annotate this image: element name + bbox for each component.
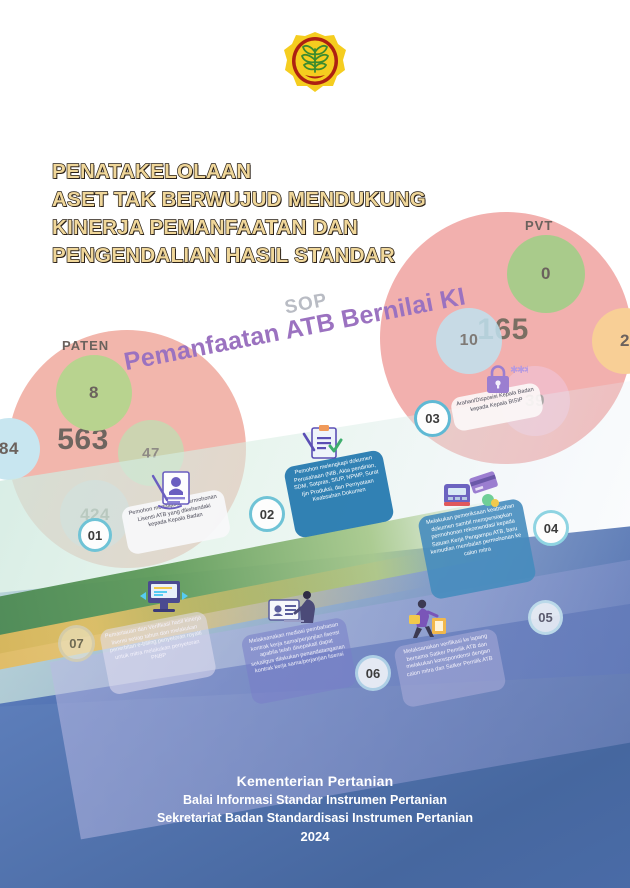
ministry-of-agriculture-logo (281, 30, 349, 108)
padlock-icon: ✱ ✱ ✱ (482, 363, 528, 402)
step-badge-03-label: 03 (425, 411, 439, 426)
step-badge-04[interactable]: 04 (533, 510, 569, 546)
presentation-icon (265, 590, 323, 639)
page-title: PENATAKELOLAAN ASET TAK BERWUJUD MENDUKU… (52, 158, 522, 270)
form-document-icon (149, 470, 195, 517)
step-badge-05[interactable]: 05 (528, 600, 563, 635)
checklist-clipboard-icon (300, 424, 344, 473)
monitor-chart-icon (140, 578, 192, 625)
step-badge-07-label: 07 (69, 636, 83, 651)
step-badge-02[interactable]: 02 (249, 496, 285, 532)
footer-line-ministry: Kementerian Pertanian (0, 772, 630, 791)
bubble-paten-label: PATEN (62, 338, 109, 353)
title-line-3: KINERJA PEMANFAATAN DAN (52, 214, 522, 242)
payment-terminal-icon (438, 470, 500, 515)
footer-line-sekretariat: Sekretariat Badan Standardisasi Instrume… (0, 809, 630, 827)
step-badge-01[interactable]: 01 (78, 518, 112, 552)
field-worker-icon (404, 598, 456, 645)
footer-line-year: 2024 (0, 827, 630, 847)
title-line-1: PENATAKELOLAAN (52, 158, 522, 186)
step-badge-06[interactable]: 06 (355, 655, 391, 691)
footer-line-balai: Balai Informasi Standar Instrumen Pertan… (0, 791, 630, 809)
step-badge-03[interactable]: 03 (414, 400, 451, 437)
step-badge-06-label: 06 (366, 666, 380, 681)
bubble-pvt-label: PVT (525, 218, 553, 233)
bubble-paten-8: 8 (56, 355, 132, 431)
step-badge-02-label: 02 (260, 507, 274, 522)
step-badge-05-label: 05 (538, 610, 552, 625)
title-line-4: PENGENDALIAN HASIL STANDAR (52, 242, 522, 270)
step-badge-07[interactable]: 07 (58, 625, 95, 662)
step-badge-01-label: 01 (88, 528, 102, 543)
svg-text:✱: ✱ (524, 365, 528, 376)
footer: Kementerian Pertanian Balai Informasi St… (0, 772, 630, 847)
cover-page: PATEN 563 8 47 424 84 PVT 165 0 10 2 39 (0, 0, 630, 888)
step-badge-04-label: 04 (544, 521, 558, 536)
title-line-2: ASET TAK BERWUJUD MENDUKUNG (52, 186, 522, 214)
